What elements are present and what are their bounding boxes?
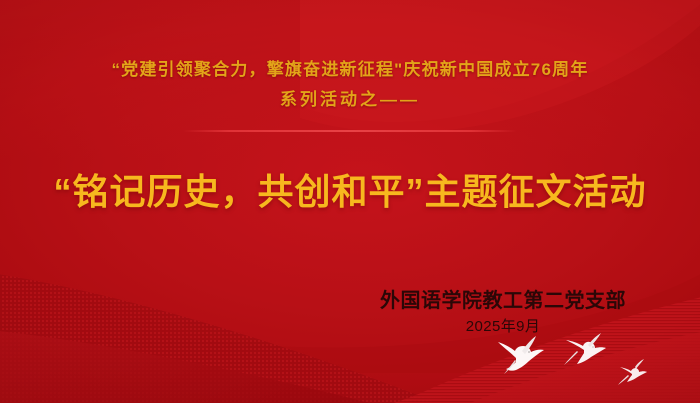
subtitle-line-2: 系列活动之—— <box>0 85 700 115</box>
page-title: “铭记历史，共创和平”主题征文活动 <box>0 168 700 216</box>
dove-icon <box>498 336 544 374</box>
poster-canvas: “党建引领聚合力，擎旗奋进新征程"庆祝新中国成立76周年 系列活动之—— “铭记… <box>0 0 700 403</box>
signature-organization: 外国语学院教工第二党支部 <box>380 288 626 314</box>
subtitle-block: “党建引领聚合力，擎旗奋进新征程"庆祝新中国成立76周年 系列活动之—— <box>0 55 700 115</box>
horizontal-divider <box>183 130 517 132</box>
dove-icon <box>564 333 606 365</box>
dove-icon <box>618 359 647 385</box>
doves-group <box>480 328 680 398</box>
subtitle-line-1: “党建引领聚合力，擎旗奋进新征程"庆祝新中国成立76周年 <box>0 55 700 85</box>
